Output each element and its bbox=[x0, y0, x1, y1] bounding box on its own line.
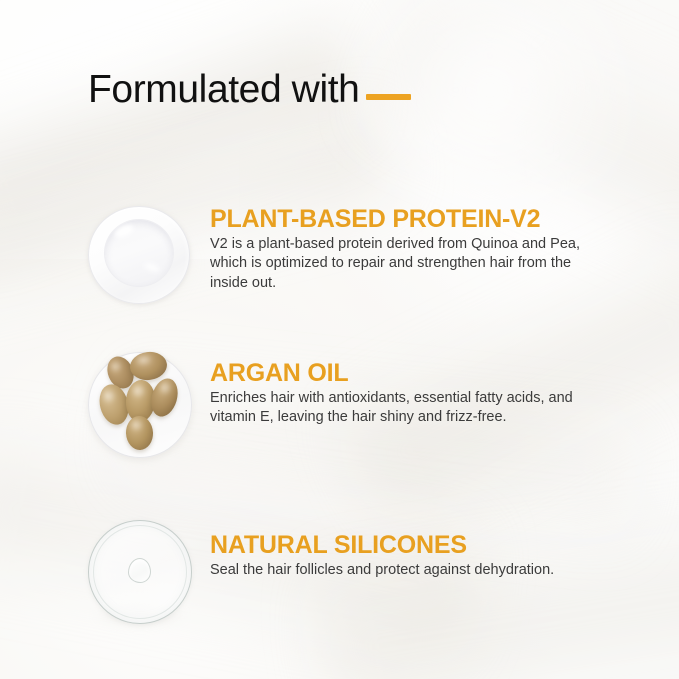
ingredient-description: Seal the hair follicles and protect agai… bbox=[210, 561, 582, 580]
page-title: Formulated with bbox=[88, 70, 411, 109]
ingredient-row-argan-oil: ARGAN OIL Enriches hair with antioxidant… bbox=[0, 346, 679, 466]
argan-oil-image bbox=[82, 346, 202, 466]
ingredient-row-plant-based-protein: PLANT-BASED PROTEIN-V2 V2 is a plant-bas… bbox=[0, 196, 679, 316]
argan-oil-copy: ARGAN OIL Enriches hair with antioxidant… bbox=[202, 346, 679, 466]
glass-dish-protein-icon bbox=[88, 202, 192, 306]
plant-based-protein-image bbox=[82, 196, 202, 316]
infographic-canvas: Formulated with PLANT-BASED PROTEIN-V2 V… bbox=[0, 0, 679, 679]
silicone-droplet bbox=[128, 558, 151, 583]
ingredient-title: PLANT-BASED PROTEIN-V2 bbox=[210, 206, 679, 233]
ingredient-description: Enriches hair with antioxidants, essenti… bbox=[210, 389, 582, 428]
ingredient-title: NATURAL SILICONES bbox=[210, 532, 679, 559]
dish-inner-well bbox=[104, 219, 174, 287]
ingredient-description: V2 is a plant-based protein derived from… bbox=[210, 235, 582, 293]
glass-dish-argan-nuts-icon bbox=[86, 348, 198, 460]
title-accent-rule bbox=[366, 94, 411, 100]
natural-silicones-copy: NATURAL SILICONES Seal the hair follicle… bbox=[202, 516, 679, 636]
natural-silicones-image bbox=[82, 516, 202, 636]
ingredient-title: ARGAN OIL bbox=[210, 360, 679, 387]
glass-dish-silicone-icon bbox=[88, 518, 198, 628]
plant-based-protein-copy: PLANT-BASED PROTEIN-V2 V2 is a plant-bas… bbox=[202, 196, 679, 316]
ingredient-row-natural-silicones: NATURAL SILICONES Seal the hair follicle… bbox=[0, 516, 679, 636]
page-title-text: Formulated with bbox=[88, 70, 359, 109]
